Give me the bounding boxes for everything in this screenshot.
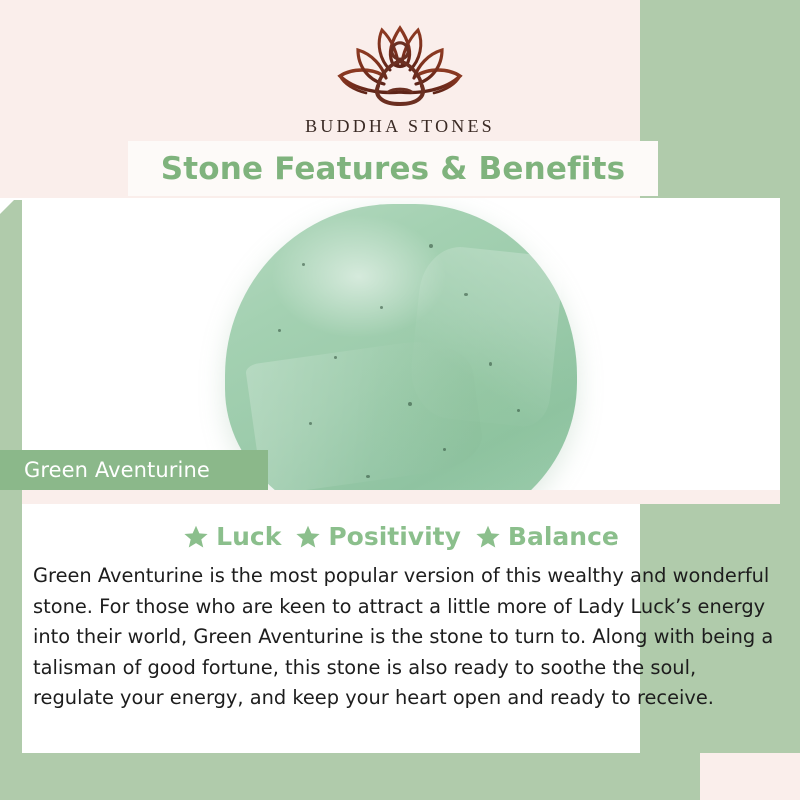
stone-speck — [380, 306, 383, 309]
cream-strip-under-label — [22, 490, 780, 504]
stone-speck — [366, 475, 370, 478]
stone-facet-highlight-right — [406, 243, 564, 428]
green-aventurine-stone-image — [225, 204, 577, 490]
stone-image-panel — [22, 198, 780, 490]
stone-speck — [408, 402, 412, 406]
cream-bottom-right-corner — [700, 753, 800, 800]
benefit-label: Balance — [508, 522, 619, 551]
stone-description: Green Aventurine is the most popular ver… — [33, 561, 775, 714]
star-icon — [183, 524, 209, 550]
stone-speck — [302, 263, 305, 266]
benefit-item: Balance — [475, 522, 619, 551]
stone-speck — [278, 329, 281, 332]
star-icon — [475, 524, 501, 550]
stone-speck — [517, 409, 520, 412]
stone-name-label: Green Aventurine — [0, 450, 268, 490]
frame-bottom-green-bar — [0, 753, 740, 800]
lotus-meditating-figure-icon — [314, 18, 486, 110]
page-title: Stone Features & Benefits — [161, 151, 626, 187]
stone-name-text: Green Aventurine — [0, 458, 210, 482]
benefit-label: Luck — [216, 522, 281, 551]
title-banner: Stone Features & Benefits — [128, 141, 658, 196]
stone-speck — [429, 244, 433, 248]
benefit-item: Luck — [183, 522, 281, 551]
benefit-item: Positivity — [295, 522, 461, 551]
stone-speck — [334, 356, 337, 359]
benefit-label: Positivity — [328, 522, 461, 551]
brand-name: BUDDHA STONES — [0, 116, 800, 137]
brand-logo: BUDDHA STONES — [0, 18, 800, 137]
poster-canvas: BUDDHA STONES Stone Features & Benefits … — [0, 0, 800, 800]
star-icon — [295, 524, 321, 550]
benefits-row: Luck Positivity Balance — [22, 522, 780, 551]
